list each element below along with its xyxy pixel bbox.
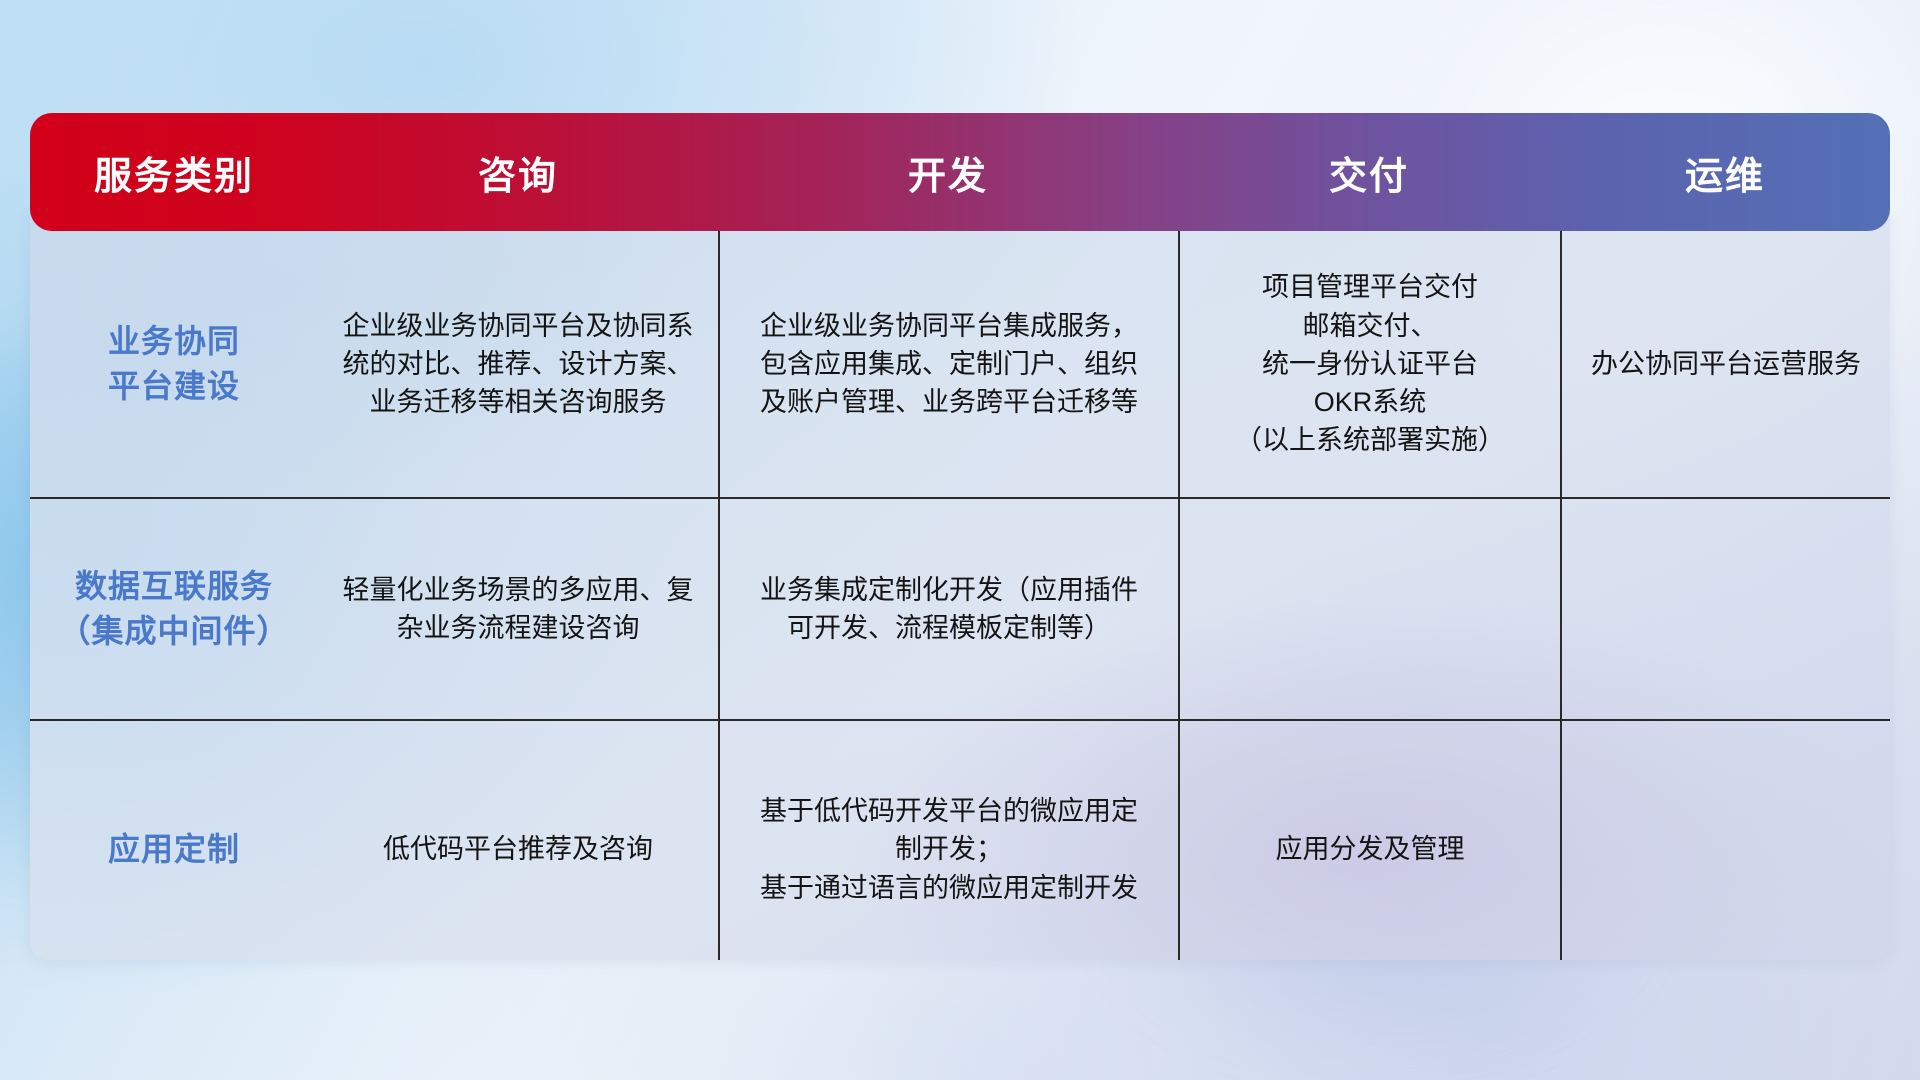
column-header-operations: 运维 — [1560, 145, 1890, 200]
cell-development: 基于低代码开发平台的微应用定 制开发； 基于通过语言的微应用定制开发 — [718, 721, 1178, 960]
table-row: 数据互联服务 （集成中间件） 轻量化业务场景的多应用、复 杂业务流程建设咨询 业… — [30, 499, 1890, 721]
cell-text: 企业级业务协同平台及协同系 统的对比、推荐、设计方案、 业务迁移等相关咨询服务 — [343, 307, 694, 422]
table-row: 应用定制 低代码平台推荐及咨询 基于低代码开发平台的微应用定 制开发； 基于通过… — [30, 721, 1890, 960]
cell-operations — [1560, 499, 1890, 719]
cell-text: 业务集成定制化开发（应用插件 可开发、流程模板定制等） — [760, 571, 1138, 648]
row-category-cell: 应用定制 — [30, 721, 318, 960]
row-category-label: 应用定制 — [108, 827, 240, 872]
cell-text: 低代码平台推荐及咨询 — [383, 830, 653, 868]
cell-consulting: 企业级业务协同平台及协同系 统的对比、推荐、设计方案、 业务迁移等相关咨询服务 — [318, 231, 718, 497]
cell-operations — [1560, 721, 1890, 960]
table-row: 业务协同 平台建设 企业级业务协同平台及协同系 统的对比、推荐、设计方案、 业务… — [30, 231, 1890, 499]
row-category-label: 数据互联服务 （集成中间件） — [58, 564, 289, 655]
column-header-development: 开发 — [718, 145, 1178, 200]
column-header-delivery: 交付 — [1178, 145, 1560, 200]
cell-development: 业务集成定制化开发（应用插件 可开发、流程模板定制等） — [718, 499, 1178, 719]
cell-text: 轻量化业务场景的多应用、复 杂业务流程建设咨询 — [343, 571, 694, 648]
cell-delivery: 应用分发及管理 — [1178, 721, 1560, 960]
cell-text: 基于低代码开发平台的微应用定 制开发； 基于通过语言的微应用定制开发 — [760, 792, 1138, 907]
table-body-panel: 业务协同 平台建设 企业级业务协同平台及协同系 统的对比、推荐、设计方案、 业务… — [30, 213, 1890, 960]
cell-consulting: 低代码平台推荐及咨询 — [318, 721, 718, 960]
cell-text: 企业级业务协同平台集成服务， 包含应用集成、定制门户、组织 及账户管理、业务跨平… — [760, 307, 1138, 422]
cell-text: 应用分发及管理 — [1276, 830, 1465, 868]
row-category-label: 业务协同 平台建设 — [108, 319, 240, 410]
cell-consulting: 轻量化业务场景的多应用、复 杂业务流程建设咨询 — [318, 499, 718, 719]
column-header-category: 服务类别 — [30, 145, 318, 200]
cell-text: 项目管理平台交付 邮箱交付、 统一身份认证平台 OKR系统 （以上系统部署实施） — [1235, 268, 1505, 460]
column-header-consulting: 咨询 — [318, 145, 718, 200]
cell-text: 办公协同平台运营服务 — [1591, 345, 1861, 383]
cell-development: 企业级业务协同平台集成服务， 包含应用集成、定制门户、组织 及账户管理、业务跨平… — [718, 231, 1178, 497]
cell-delivery — [1178, 499, 1560, 719]
cell-delivery: 项目管理平台交付 邮箱交付、 统一身份认证平台 OKR系统 （以上系统部署实施） — [1178, 231, 1560, 497]
cell-operations: 办公协同平台运营服务 — [1560, 231, 1890, 497]
row-category-cell: 数据互联服务 （集成中间件） — [30, 499, 318, 719]
service-matrix-table: 服务类别 咨询 开发 交付 运维 业务协同 平台建设 企业级业务协同平台及协同系… — [30, 113, 1890, 960]
row-category-cell: 业务协同 平台建设 — [30, 231, 318, 497]
table-header-row: 服务类别 咨询 开发 交付 运维 — [30, 113, 1890, 231]
